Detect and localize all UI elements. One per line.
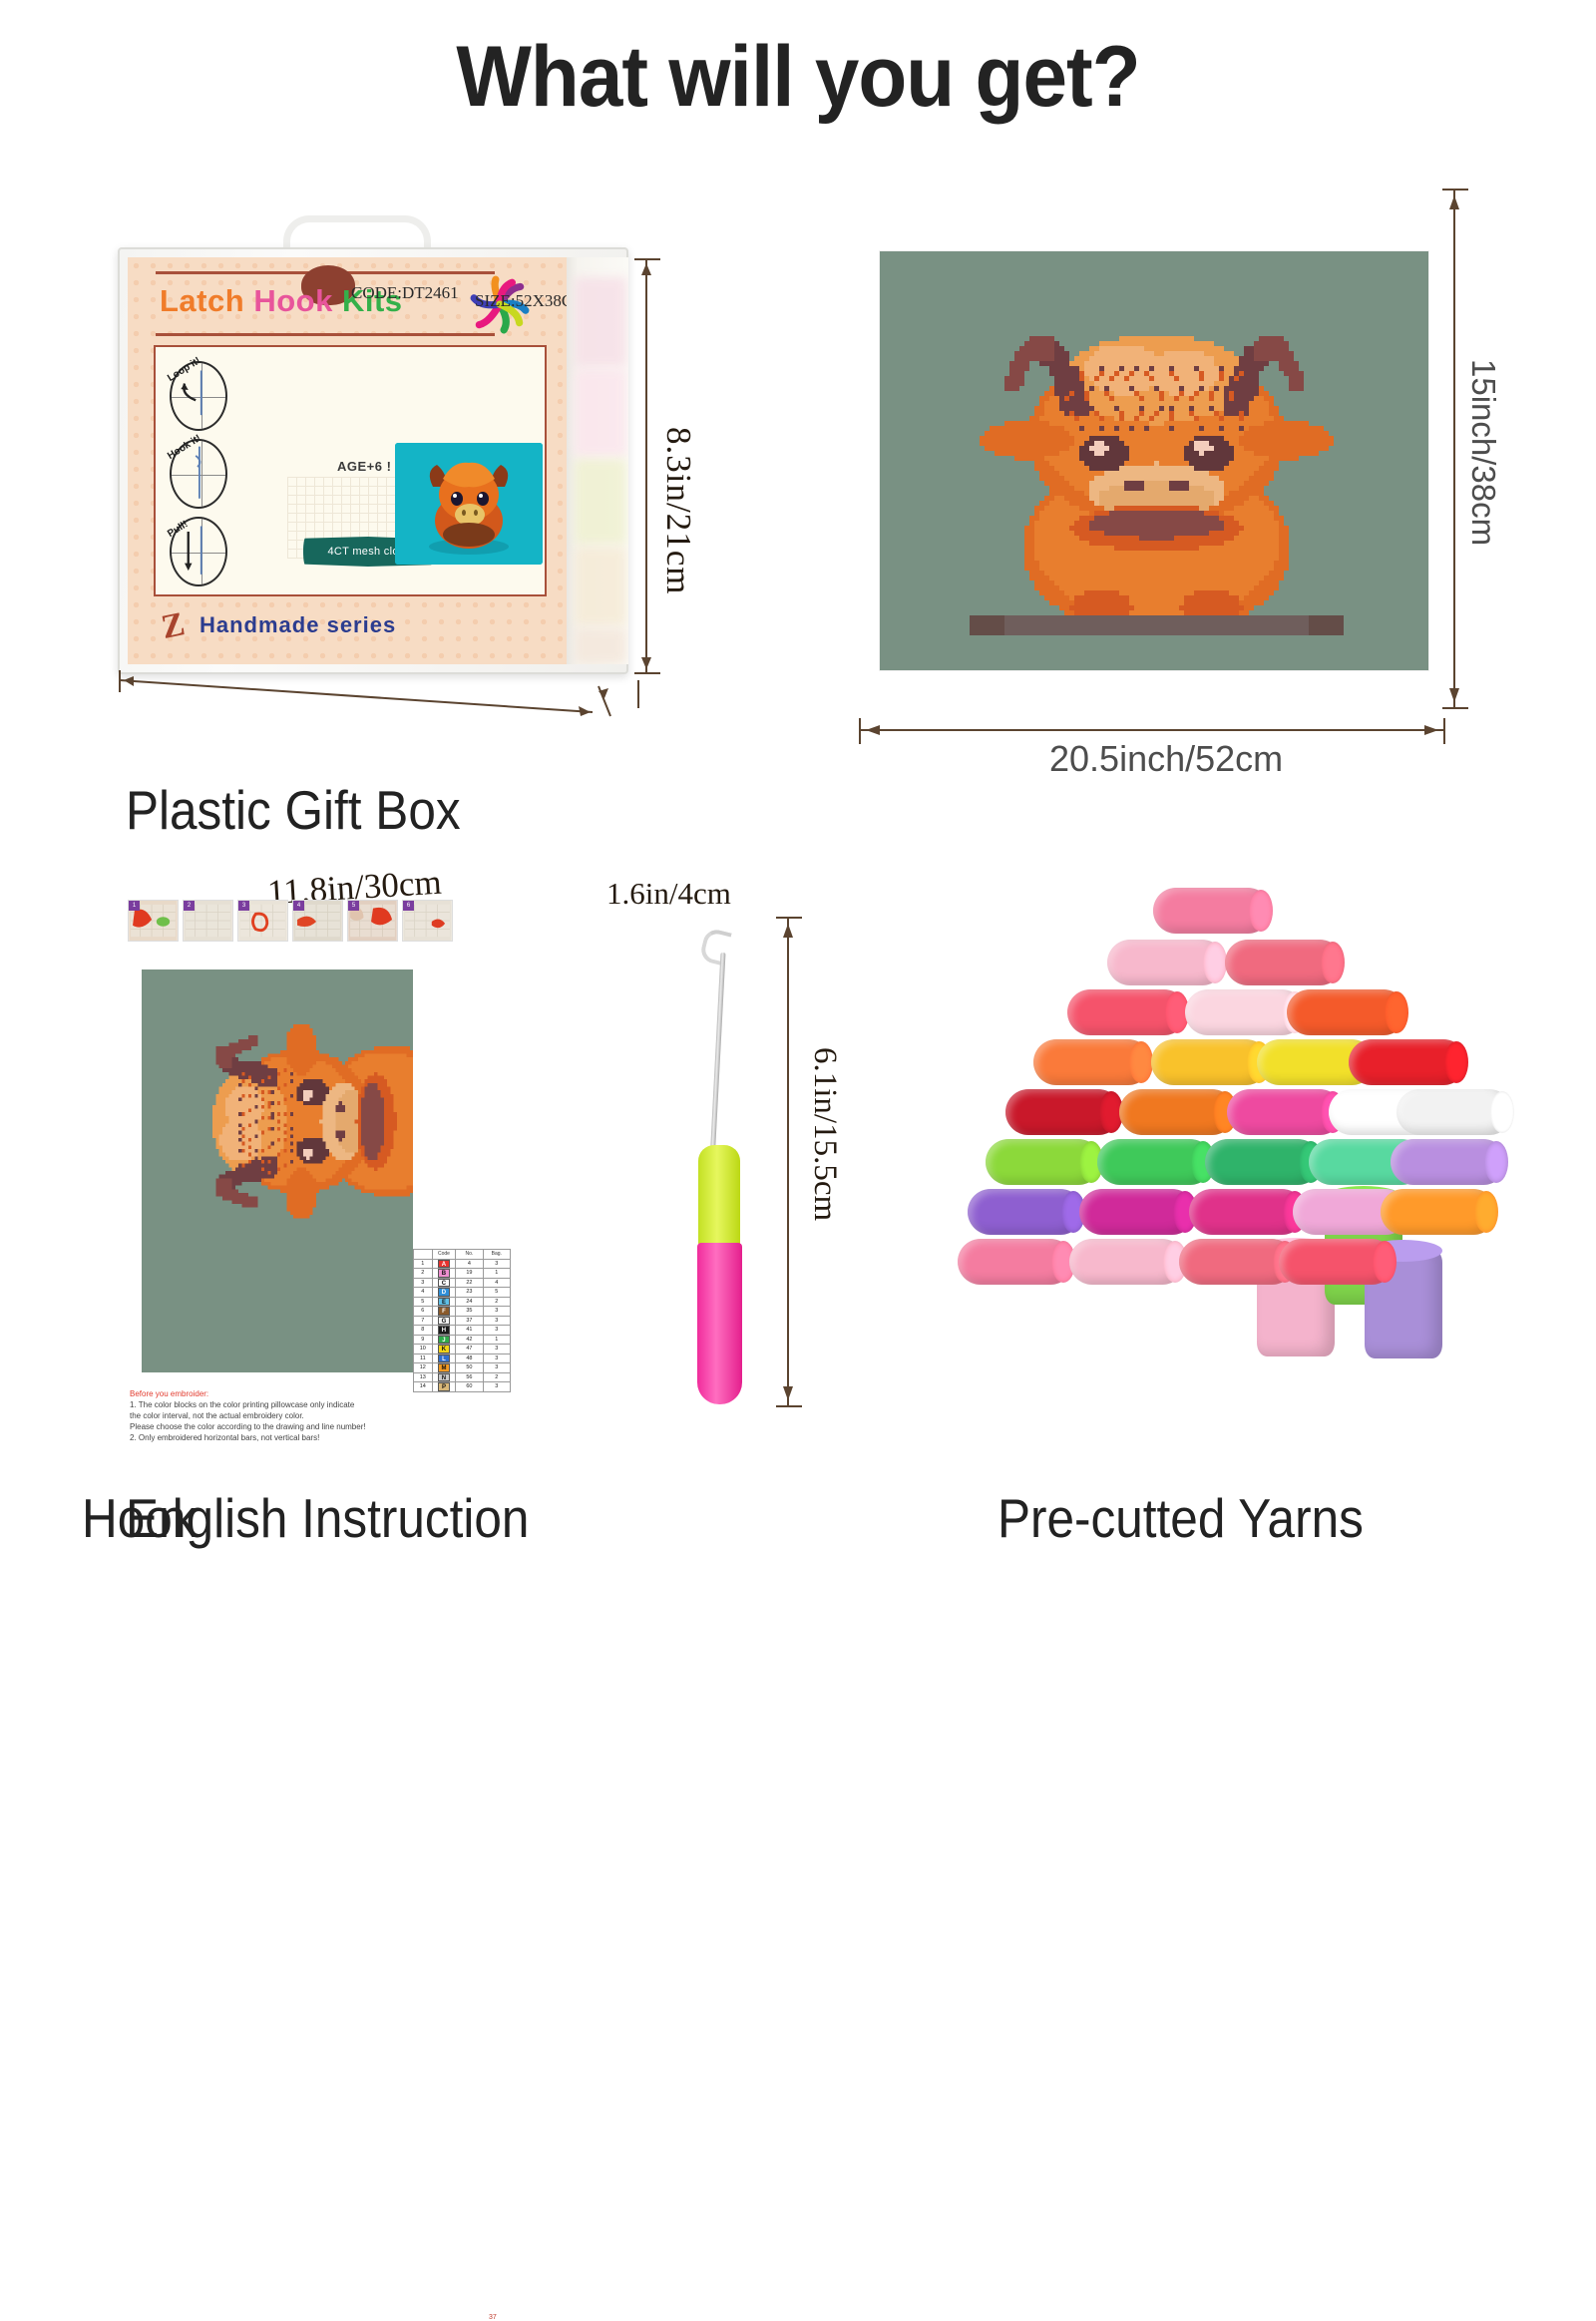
color-key-row: 7G373 [414, 1316, 511, 1326]
key-row-index: 6 [414, 1307, 433, 1317]
key-row-count: 41 [456, 1326, 483, 1336]
key-row-swatch: P [432, 1382, 456, 1392]
printed-canvas-panel: 15inch/38cm 20.5inch/52cm [818, 170, 1596, 858]
key-row-swatch: F [432, 1307, 456, 1317]
key-row-count: 60 [456, 1382, 483, 1392]
key-row-count: 4 [456, 1259, 483, 1269]
gift-box-illustration: Latch Hook Kits [118, 209, 646, 678]
yarn-bundle [1396, 1089, 1512, 1135]
box-side-window [567, 257, 628, 664]
color-key-row: 10K473 [414, 1345, 511, 1354]
hook-length-dimension: 6.1in/15.5cm [806, 1047, 843, 1221]
key-row-index: 7 [414, 1316, 433, 1326]
key-row-index: 4 [414, 1288, 433, 1298]
color-key-row: 6F353 [414, 1307, 511, 1317]
key-row-count: 48 [456, 1354, 483, 1363]
canvas-cow-mesh [880, 251, 1428, 670]
color-key-row: 2B191 [414, 1269, 511, 1279]
key-row-swatch: H [432, 1326, 456, 1336]
color-key-row: 13N562 [414, 1372, 511, 1382]
canvas-width-dimension: 20.5inch/52cm [1049, 738, 1283, 780]
instruction-thumbnail: 66 [402, 900, 453, 942]
warning-line-3: Please choose the color according to the… [130, 1421, 419, 1432]
key-row-bag: 3 [483, 1354, 510, 1363]
color-key-row: 4D235 [414, 1288, 511, 1298]
key-row-swatch: M [432, 1363, 456, 1373]
color-key-row: 11L483 [414, 1354, 511, 1363]
key-row-swatch: E [432, 1297, 456, 1307]
key-row-count: 23 [456, 1288, 483, 1298]
hook-needle [710, 953, 726, 1162]
instruction-chart-sheet [128, 960, 423, 1383]
hook-grip-lower [697, 1243, 742, 1404]
color-key-total: 37 [489, 2314, 497, 2321]
key-row-count: 22 [456, 1278, 483, 1288]
color-key-row: 3C224 [414, 1278, 511, 1288]
color-key-row: 14P603 [414, 1382, 511, 1392]
box-preview-photo [395, 443, 543, 565]
yarn-bundle [1153, 888, 1271, 934]
warning-line-1: 1. The color blocks on the color printin… [130, 1399, 419, 1410]
yarn-bundle [1381, 1189, 1496, 1235]
instruction-thumbnail: 22 [183, 900, 233, 942]
canvas-sheet [880, 251, 1428, 670]
yarn-bundle [1227, 1089, 1343, 1135]
thumbnail-number: 2 [184, 901, 195, 911]
yarn-caption: Pre-cutted Yarns [997, 1486, 1364, 1550]
box-front-artwork: Latch Hook Kits [128, 257, 567, 664]
yarn-bundle [1069, 1239, 1185, 1285]
key-row-count: 37 [456, 1316, 483, 1326]
age-recommendation: AGE+6 ! [337, 459, 391, 474]
thumbnail-number: 6 [403, 901, 414, 911]
yarn-bundle [1225, 940, 1343, 985]
key-row-count: 35 [456, 1307, 483, 1317]
color-key-table: Code No. Bag. 1A432B1913C2244D2355E2426F… [413, 1249, 511, 1392]
key-row-swatch: L [432, 1354, 456, 1363]
brand-word-latch: Latch [160, 283, 244, 318]
yarn-bundle [1391, 1139, 1506, 1185]
key-row-swatch: A [432, 1259, 456, 1269]
yarn-bundle [1205, 1139, 1321, 1185]
key-row-index: 13 [414, 1372, 433, 1382]
key-row-index: 1 [414, 1259, 433, 1269]
key-row-index: 2 [414, 1269, 433, 1279]
key-header-bag: Bag. [483, 1250, 510, 1260]
key-row-bag: 3 [483, 1363, 510, 1373]
yarn-bundle [1079, 1189, 1195, 1235]
key-row-count: 56 [456, 1372, 483, 1382]
hook-latch-tip-icon [698, 927, 731, 966]
yarn-bundle [1107, 940, 1225, 985]
key-row-swatch: C [432, 1278, 456, 1288]
yarn-bundle [1179, 1239, 1295, 1285]
key-row-index: 10 [414, 1345, 433, 1354]
hook-caption: Hook [82, 1486, 198, 1550]
product-code: CODE:DT2461 [351, 283, 459, 303]
yarn-bundle [1119, 1089, 1235, 1135]
instruction-panel: 112233445566 Code No. Bag. 1A432B1913C22… [0, 878, 658, 1476]
key-row-index: 3 [414, 1278, 433, 1288]
yarn-bundle [1151, 1039, 1269, 1085]
yarn-bundle [1097, 1139, 1213, 1185]
box-brand-strip: Z Handmade series [154, 602, 547, 652]
series-text: Handmade series [199, 612, 396, 638]
yarn-bundle [968, 1189, 1083, 1235]
product-size: SIZE:52X38CM [475, 291, 567, 311]
key-row-bag: 3 [483, 1259, 510, 1269]
key-row-count: 24 [456, 1297, 483, 1307]
warning-line-2: the color interval, not the actual embro… [130, 1410, 419, 1421]
key-row-index: 12 [414, 1363, 433, 1373]
thumbnail-number: 3 [238, 901, 249, 911]
instruction-thumbnail: 33 [237, 900, 288, 942]
instruction-thumbnail: 11 [128, 900, 179, 942]
instruction-warning: Before you embroider: 1. The color block… [130, 1388, 419, 1443]
key-row-bag: 2 [483, 1372, 510, 1382]
instruction-thumbnail-strip: 112233445566 [128, 900, 457, 948]
color-key-row: 1A43 [414, 1259, 511, 1269]
yarn-bundle [1067, 989, 1187, 1035]
yarn-panel [958, 878, 1596, 1476]
box-height-dimension: 8.3in/21cm [658, 427, 698, 594]
yarn-bundle [1287, 989, 1406, 1035]
key-row-swatch: G [432, 1316, 456, 1326]
key-row-bag: 1 [483, 1335, 510, 1345]
warning-line-4: 2. Only embroidered horizontal bars, not… [130, 1432, 419, 1443]
key-row-bag: 3 [483, 1382, 510, 1392]
key-row-bag: 1 [483, 1269, 510, 1279]
key-header-index [414, 1250, 433, 1260]
key-row-bag: 3 [483, 1326, 510, 1336]
key-row-index: 11 [414, 1354, 433, 1363]
key-row-index: 5 [414, 1297, 433, 1307]
color-key-row: 12M503 [414, 1363, 511, 1373]
key-row-bag: 3 [483, 1307, 510, 1317]
key-row-index: 9 [414, 1335, 433, 1345]
instruction-thumbnail: 55 [347, 900, 398, 942]
page-title: What will you get? [56, 28, 1540, 127]
chart-cow-mesh [142, 969, 413, 1372]
key-row-bag: 2 [483, 1297, 510, 1307]
gift-box-caption: Plastic Gift Box [126, 778, 461, 842]
thumbnail-number: 5 [348, 901, 359, 911]
warning-heading: Before you embroider: [130, 1388, 419, 1399]
instruction-thumbnail: 44 [292, 900, 343, 942]
key-row-count: 19 [456, 1269, 483, 1279]
yarn-bundle [1279, 1239, 1395, 1285]
key-row-bag: 3 [483, 1345, 510, 1354]
color-key-row: 9J421 [414, 1335, 511, 1345]
yarn-bundle [986, 1139, 1101, 1185]
color-key-row: 8H413 [414, 1326, 511, 1336]
hook-panel: 6.1in/15.5cm [658, 878, 958, 1476]
yarn-bundle [1349, 1039, 1466, 1085]
yarn-bundle [1005, 1089, 1121, 1135]
key-header-no: No. [456, 1250, 483, 1260]
box-inner-panel: Loop it! Hook it! [154, 345, 547, 596]
key-row-count: 42 [456, 1335, 483, 1345]
hook-grip-upper [698, 1145, 740, 1247]
key-row-bag: 3 [483, 1316, 510, 1326]
key-row-swatch: N [432, 1372, 456, 1382]
key-row-swatch: B [432, 1269, 456, 1279]
key-row-bag: 5 [483, 1288, 510, 1298]
yarn-bundle [1189, 1189, 1305, 1235]
thumbnail-number: 4 [293, 901, 304, 911]
brand-mark-icon: Z [159, 603, 199, 645]
gift-box-panel: Latch Hook Kits [0, 170, 798, 858]
yarn-bundle [958, 1239, 1073, 1285]
brand-word-hook: Hook [253, 283, 333, 318]
key-header-code: Code [432, 1250, 456, 1260]
key-row-bag: 4 [483, 1278, 510, 1288]
color-key-row: 5E242 [414, 1297, 511, 1307]
key-row-count: 50 [456, 1363, 483, 1373]
yarn-bundle [1033, 1039, 1151, 1085]
canvas-height-dimension: 15inch/38cm [1464, 359, 1502, 546]
key-row-index: 8 [414, 1326, 433, 1336]
color-key-header-row: Code No. Bag. [414, 1250, 511, 1260]
key-row-swatch: D [432, 1288, 456, 1298]
key-row-swatch: J [432, 1335, 456, 1345]
key-row-count: 47 [456, 1345, 483, 1354]
key-row-swatch: K [432, 1345, 456, 1354]
thumbnail-number: 1 [129, 901, 140, 911]
